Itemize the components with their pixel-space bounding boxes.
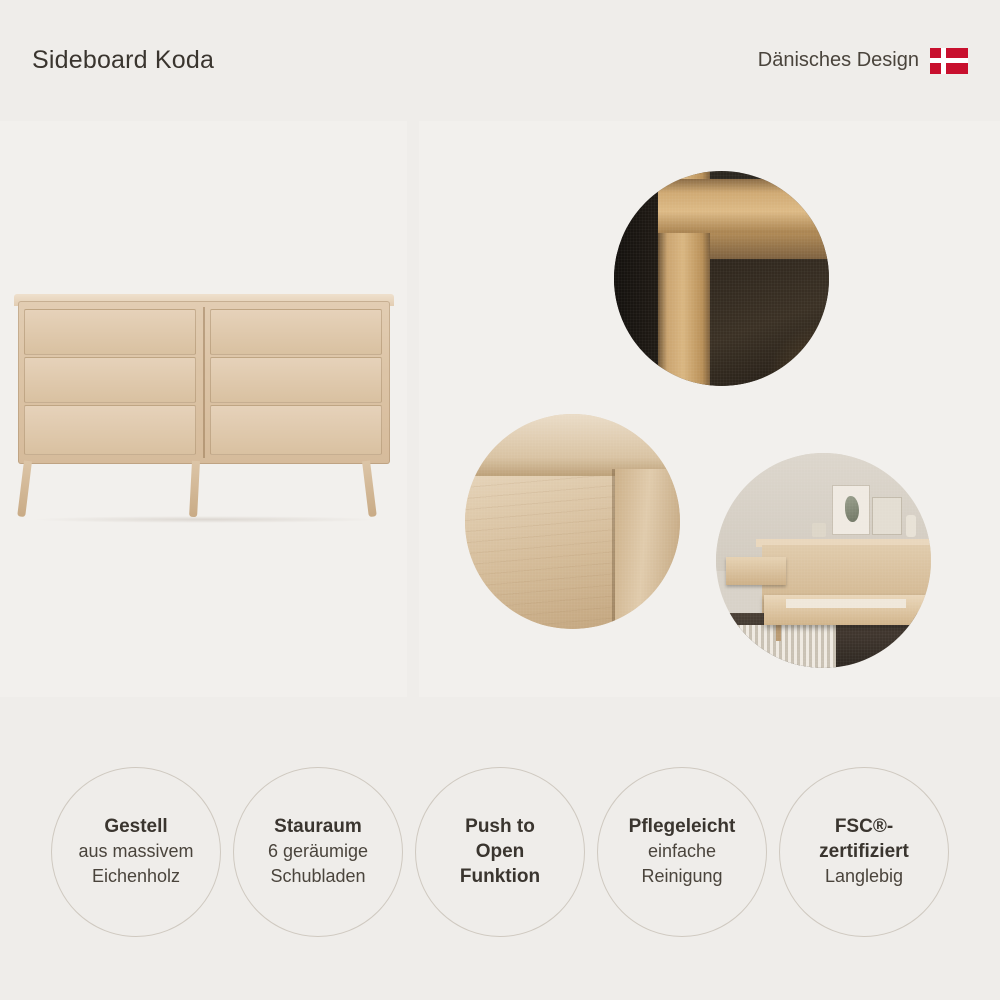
photo-top-rail bbox=[465, 414, 680, 476]
sideboard-body bbox=[18, 301, 390, 464]
sideboard-shadow bbox=[30, 516, 380, 523]
photo-wood-underside bbox=[710, 233, 829, 259]
feature-line-3: Langlebig bbox=[825, 864, 903, 889]
sideboard-leg bbox=[189, 461, 200, 517]
detail-photo-room-scene bbox=[716, 453, 931, 668]
feature-title: Pflegeleicht bbox=[629, 814, 736, 839]
sideboard-drawer bbox=[24, 357, 196, 403]
feature-line-2: 6 geräumige bbox=[268, 839, 368, 864]
feature-line-2: einfache bbox=[648, 839, 716, 864]
feature-line-3: Reinigung bbox=[641, 864, 722, 889]
photo-corner-seam bbox=[612, 469, 615, 629]
feature-title: FSC®- bbox=[835, 814, 893, 839]
sideboard-drawer bbox=[210, 405, 382, 455]
detail-photo-collage bbox=[419, 121, 1000, 697]
photo-warm-highlight bbox=[764, 321, 829, 386]
feature-badge-push-to-open: Push to Open Funktion bbox=[415, 767, 585, 937]
feature-title: Gestell bbox=[104, 814, 167, 839]
feature-badge-pflegeleicht: Pflegeleicht einfache Reinigung bbox=[597, 767, 767, 937]
product-infographic-page: Sideboard Koda Dänisches Design bbox=[0, 0, 1000, 1000]
photo-artwork-leaf bbox=[845, 496, 859, 522]
feature-badge-fsc: FSC®- zertifiziert Langlebig bbox=[779, 767, 949, 937]
photo-open-drawer-upper bbox=[726, 557, 786, 585]
sideboard-drawer bbox=[24, 309, 196, 355]
feature-line-2: aus massivem bbox=[78, 839, 193, 864]
sideboard-drawer bbox=[210, 357, 382, 403]
photo-shadow-edge bbox=[614, 171, 660, 386]
photo-artwork-small bbox=[872, 497, 902, 535]
danish-flag-icon bbox=[930, 48, 968, 74]
photo-wood-horizontal bbox=[658, 179, 829, 233]
feature-line-3: Funktion bbox=[460, 864, 540, 889]
image-panels bbox=[0, 121, 1000, 697]
sideboard-leg bbox=[362, 461, 377, 518]
photo-decor-object bbox=[812, 523, 826, 537]
photo-decor-vase bbox=[906, 515, 916, 537]
header-badge: Dänisches Design bbox=[758, 48, 968, 74]
photo-cabinet-leg bbox=[776, 625, 781, 641]
detail-photo-corner-joint bbox=[614, 171, 829, 386]
photo-side-panel bbox=[615, 469, 680, 629]
feature-line-3: Schubladen bbox=[270, 864, 365, 889]
feature-badge-stauraum: Stauraum 6 geräumige Schubladen bbox=[233, 767, 403, 937]
feature-badges: Gestell aus massivem Eichenholz Stauraum… bbox=[0, 703, 1000, 1000]
photo-drawer-contents bbox=[786, 599, 906, 608]
sideboard-illustration bbox=[10, 301, 400, 526]
page-title: Sideboard Koda bbox=[32, 46, 214, 75]
feature-badge-gestell: Gestell aus massivem Eichenholz bbox=[51, 767, 221, 937]
feature-line-2: Open bbox=[476, 839, 525, 864]
feature-line-2: zertifiziert bbox=[819, 839, 909, 864]
feature-line-3: Eichenholz bbox=[92, 864, 180, 889]
photo-wood-grain bbox=[465, 476, 615, 629]
design-origin-label: Dänisches Design bbox=[758, 49, 919, 72]
photo-artwork-large bbox=[832, 485, 870, 535]
sideboard-center-divider bbox=[203, 307, 205, 458]
product-photo-sideboard bbox=[0, 121, 407, 697]
sideboard-leg bbox=[17, 461, 32, 518]
feature-title: Stauraum bbox=[274, 814, 362, 839]
header: Sideboard Koda Dänisches Design bbox=[0, 0, 1000, 121]
detail-photo-wood-edge bbox=[465, 414, 680, 629]
feature-title: Push to bbox=[465, 814, 535, 839]
sideboard-drawer bbox=[24, 405, 196, 455]
sideboard-drawer bbox=[210, 309, 382, 355]
